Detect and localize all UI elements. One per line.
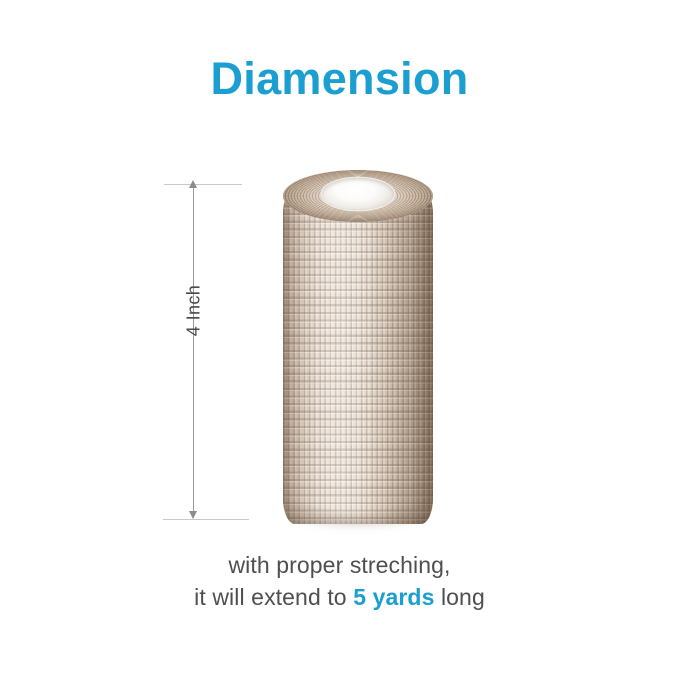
caption-line-1: with proper streching, [0, 549, 679, 581]
dimension-line [193, 186, 194, 518]
caption-line-2-prefix: it will extend to [194, 584, 353, 610]
dimension-extension-line-top [164, 184, 242, 185]
roll-inner-core [322, 178, 394, 210]
dimension-extension-line-bottom [163, 519, 249, 520]
roll-cylinder-shading [283, 188, 433, 524]
dimension-label: 4 Inch [184, 278, 205, 344]
page-title: Diamension [0, 56, 679, 101]
arrow-down-icon [189, 511, 197, 519]
arrow-up-icon [189, 180, 197, 188]
roll-bottom-edge [283, 490, 433, 524]
caption-line-2-suffix: long [434, 584, 484, 610]
caption-line-2: it will extend to 5 yards long [0, 581, 679, 613]
roll-cylinder-body [283, 188, 433, 524]
caption-accent-length: 5 yards [353, 584, 434, 610]
bandage-roll-image [283, 170, 433, 524]
product-infographic: Diamension 4 Inch with proper streching,… [0, 0, 679, 679]
caption-block: with proper streching, it will extend to… [0, 549, 679, 613]
